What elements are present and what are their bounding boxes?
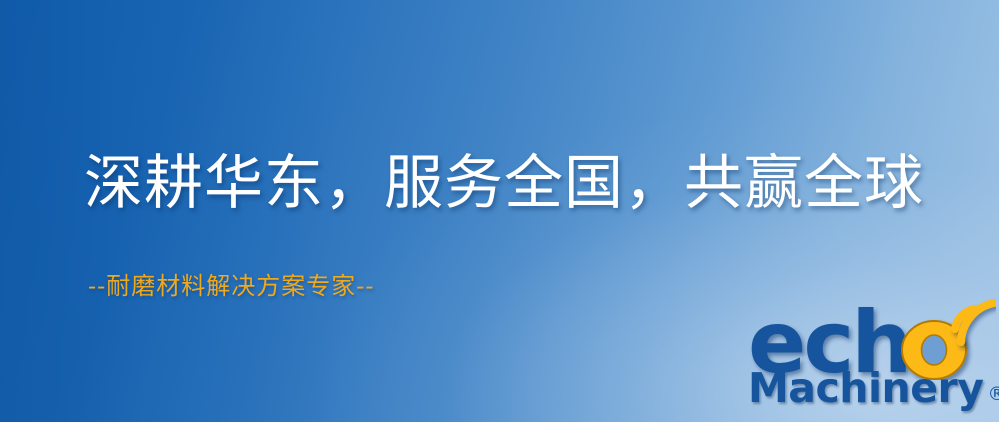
banner-headline: 深耕华东，服务全国，共赢全球	[84, 152, 924, 214]
signal-waves-icon	[955, 303, 994, 342]
hero-banner: 深耕华东，服务全国，共赢全球 --耐磨材料解决方案专家-- ech	[0, 0, 999, 422]
registered-trademark-icon: ®	[987, 383, 999, 405]
banner-subtitle: --耐磨材料解决方案专家--	[88, 266, 374, 301]
brand-logo: ech Machinery ®	[748, 298, 996, 416]
logo-wordmark-text: Machinery	[748, 364, 983, 412]
logo-wordmark: Machinery ®	[748, 364, 996, 412]
